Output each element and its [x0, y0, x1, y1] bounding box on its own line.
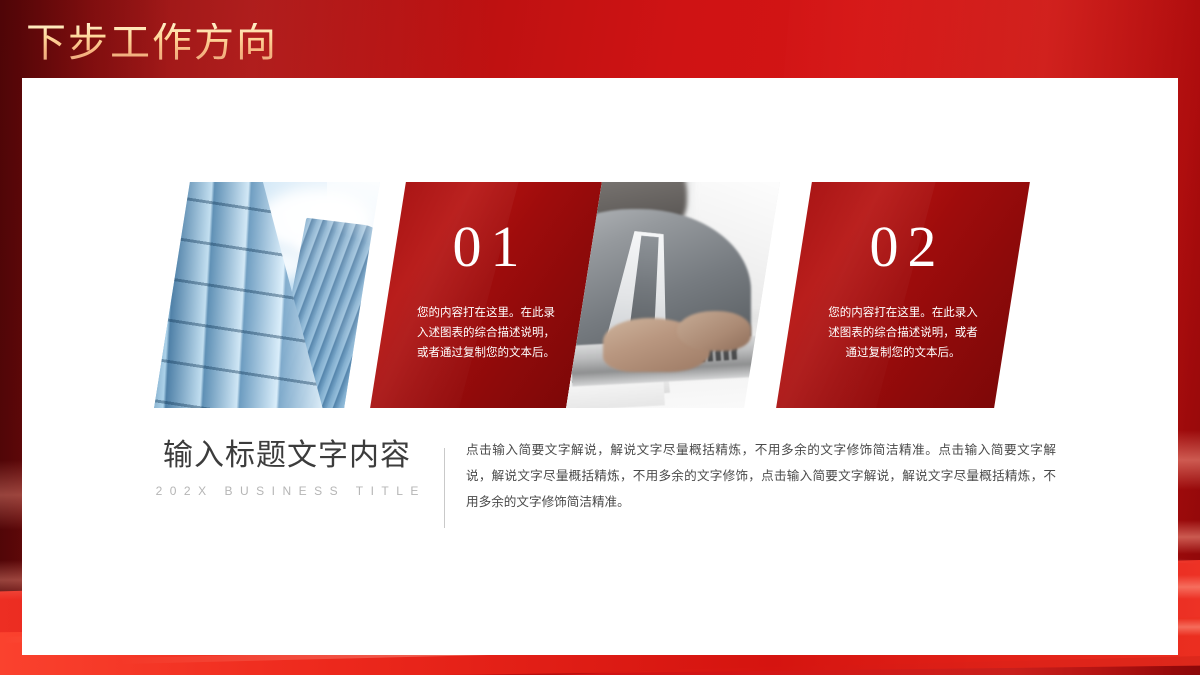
card-01-body: 01 您的内容打在这里。在此录入述图表的综合描述说明，或者通过复制您的文本后。	[388, 182, 584, 408]
card-02-body: 02 您的内容打在这里。在此录入述图表的综合描述说明，或者通过复制您的文本后。	[794, 182, 1012, 408]
slide-header-title: 下步工作方向	[26, 23, 278, 63]
bottom-subtitle: 202X BUSINESS TITLE	[142, 484, 432, 498]
left-edge-streak	[0, 460, 24, 530]
photo-skyscraper-image	[154, 182, 380, 408]
person-hand-right	[678, 311, 752, 352]
panel-photo-02[interactable]	[566, 182, 780, 408]
sky-glare	[326, 182, 380, 259]
panel-photo-01[interactable]	[154, 182, 380, 408]
slide-root: 下步工作方向	[0, 0, 1200, 675]
number-card-01[interactable]: 01 您的内容打在这里。在此录入述图表的综合描述说明，或者通过复制您的文本后。	[370, 182, 602, 408]
panel-row: 01 您的内容打在这里。在此录入述图表的综合描述说明，或者通过复制您的文本后。	[22, 182, 1178, 412]
sky-background	[154, 182, 380, 408]
bottom-body-paragraph: 点击输入简要文字解说，解说文字尽量概括精炼，不用多余的文字修饰简洁精准。点击输入…	[466, 438, 1056, 515]
card-01-description: 您的内容打在这里。在此录入述图表的综合描述说明，或者通过复制您的文本后。	[413, 304, 559, 363]
photo-businessman-laptop-image	[566, 182, 780, 408]
content-canvas: 01 您的内容打在这里。在此录入述图表的综合描述说明，或者通过复制您的文本后。	[22, 78, 1178, 655]
bottom-section: 输入标题文字内容 202X BUSINESS TITLE 点击输入简要文字解说，…	[22, 438, 1178, 578]
left-edge-streak	[0, 560, 24, 600]
bottom-main-title: 输入标题文字内容	[142, 438, 432, 475]
vertical-divider	[444, 448, 445, 528]
office-background	[566, 182, 780, 408]
card-02-description: 您的内容打在这里。在此录入述图表的综合描述说明，或者通过复制您的文本后。	[827, 304, 979, 363]
card-02-number: 02	[861, 218, 946, 276]
number-card-02[interactable]: 02 您的内容打在这里。在此录入述图表的综合描述说明，或者通过复制您的文本后。	[776, 182, 1030, 408]
card-01-number: 01	[444, 218, 529, 276]
title-block: 输入标题文字内容 202X BUSINESS TITLE	[142, 438, 432, 498]
